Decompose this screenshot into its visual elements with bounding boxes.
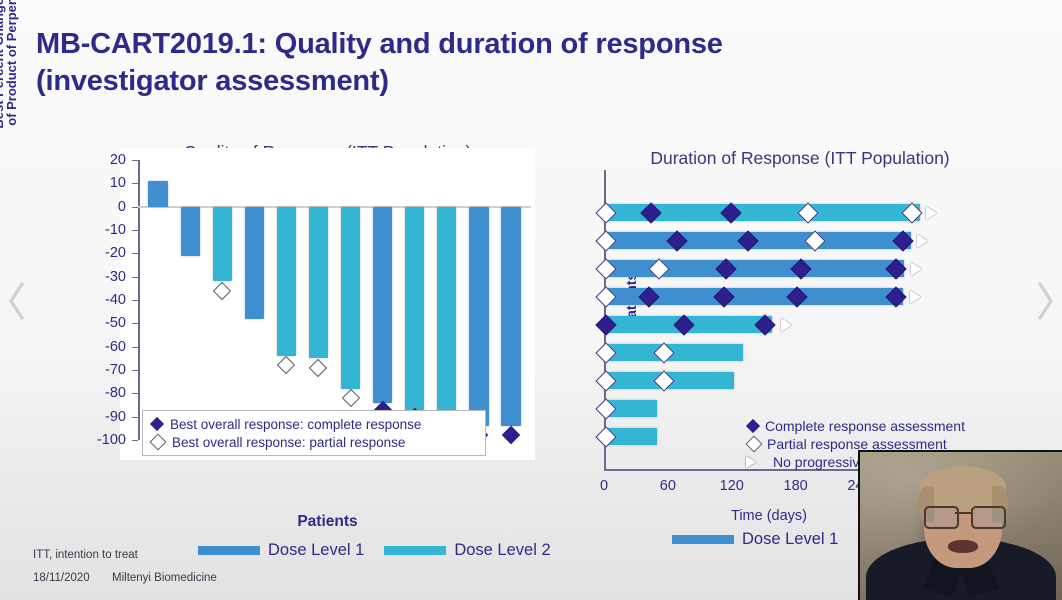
y-axis-label-line-2: of Product of Perpendicular Diameters (%…	[5, 0, 18, 150]
swimlane-bar	[604, 260, 904, 277]
swimlane-bar	[604, 204, 920, 221]
y-axis-tick-label: -80	[84, 385, 126, 401]
title-line-1: MB-CART2019.1: Quality and duration of r…	[36, 28, 723, 60]
y-axis-tick	[132, 207, 138, 208]
y-axis-tick	[132, 183, 138, 184]
title-line-2: (investigator assessment)	[36, 63, 836, 100]
left-y-axis-line	[138, 160, 140, 440]
y-axis-tick-label: -50	[84, 315, 126, 331]
x-axis-tick-label: 60	[660, 478, 676, 494]
y-axis-tick-label: -90	[84, 409, 126, 425]
waterfall-bar	[501, 207, 520, 426]
left-chart-legend: Best overall response: complete response…	[142, 410, 486, 456]
legend-item-complete-response: Best overall response: complete response	[149, 415, 479, 433]
dose-level-legend-left: Dose Level 1 Dose Level 2	[198, 541, 551, 560]
dose-level-1-swatch	[198, 546, 260, 555]
waterfall-bar	[405, 207, 424, 412]
swimlane-bar	[604, 288, 903, 305]
waterfall-bar	[277, 207, 296, 356]
x-axis-tick-label: 120	[720, 478, 744, 494]
legend-label: No progressiv	[773, 454, 859, 470]
y-axis-tick-label: -20	[84, 245, 126, 261]
dose-level-2-label: Dose Level 2	[454, 541, 550, 560]
legend-label: Best overall response: complete response	[170, 417, 421, 432]
footnote-date: 18/11/2020	[33, 572, 90, 584]
filled-diamond-icon	[150, 417, 164, 431]
partial-response-marker	[309, 358, 327, 376]
left-chart-x-axis-label: Patients	[120, 513, 535, 531]
y-axis-tick-label: -10	[84, 222, 126, 238]
y-axis-tick-label: -100	[84, 432, 126, 448]
glasses-bridge	[955, 512, 971, 514]
complete-response-marker	[502, 426, 520, 444]
dose-level-1-label: Dose Level 1	[268, 541, 364, 560]
y-axis-tick	[132, 277, 138, 278]
quality-of-response-chart: 20100-10-20-30-40-50-60-70-80-90-100 Bes…	[120, 148, 535, 460]
no-progression-marker	[926, 206, 937, 220]
open-diamond-icon	[746, 436, 763, 453]
no-progression-marker	[911, 262, 922, 276]
presenter-video-overlay[interactable]	[858, 450, 1062, 600]
dose-level-2-swatch	[384, 546, 446, 555]
y-axis-tick-label: -60	[84, 339, 126, 355]
y-axis-tick-label: -30	[84, 269, 126, 285]
left-chart-y-axis-label: Best Percent Change from Baseline in Sum…	[0, 0, 16, 150]
partial-response-marker	[341, 389, 359, 407]
swimlane-bar	[604, 344, 743, 361]
chevron-left-icon[interactable]	[4, 278, 30, 324]
legend-label: Best overall response: partial response	[172, 435, 405, 450]
waterfall-bar	[148, 181, 167, 207]
legend-item-partial-response: Best overall response: partial response	[149, 433, 479, 451]
x-axis-tick-label: 180	[784, 478, 808, 494]
y-axis-tick	[132, 417, 138, 418]
swimlane-bar	[604, 316, 772, 333]
footnote-itt: ITT, intention to treat	[33, 549, 138, 561]
swimlane-bar	[604, 400, 657, 417]
partial-response-marker	[277, 356, 295, 374]
y-axis-tick	[132, 370, 138, 371]
waterfall-bar	[213, 207, 232, 282]
legend-label: Complete response assessment	[765, 418, 965, 434]
swimlane-bar	[604, 428, 657, 445]
glasses-lens-left	[924, 506, 959, 529]
filled-diamond-icon	[746, 419, 760, 433]
y-axis-tick	[132, 393, 138, 394]
no-progression-marker	[781, 318, 792, 332]
y-axis-tick-label: -40	[84, 292, 126, 308]
y-axis-tick	[132, 323, 138, 324]
footnote-organization: Miltenyi Biomedicine	[112, 572, 217, 584]
legend-item-complete-response-assessment: Complete response assessment	[745, 417, 965, 435]
dose-level-1-label: Dose Level 1	[742, 530, 838, 549]
page-title: MB-CART2019.1: Quality and duration of r…	[36, 26, 836, 100]
swimlane-bar	[604, 372, 734, 389]
y-axis-tick	[132, 253, 138, 254]
y-axis-tick	[132, 300, 138, 301]
y-axis-tick	[132, 347, 138, 348]
presenter-mouth	[948, 540, 978, 553]
no-progression-marker	[910, 290, 921, 304]
chevron-right-icon[interactable]	[1032, 278, 1058, 324]
y-axis-tick-label: 0	[84, 199, 126, 215]
waterfall-bar	[181, 207, 200, 256]
no-progression-marker	[917, 234, 928, 248]
swimlane-bar	[604, 232, 911, 249]
waterfall-bar	[341, 207, 360, 389]
waterfall-bar	[245, 207, 264, 319]
y-axis-tick-label: 20	[84, 152, 126, 168]
waterfall-bar	[373, 207, 392, 403]
x-axis-tick-label: 0	[600, 478, 608, 494]
y-axis-tick-label: -70	[84, 362, 126, 378]
waterfall-bar	[469, 207, 488, 426]
waterfall-bar	[437, 207, 456, 422]
open-diamond-icon	[150, 434, 167, 451]
dose-level-1-swatch	[672, 535, 734, 544]
glasses-lens-right	[971, 506, 1006, 529]
y-axis-tick	[132, 440, 138, 441]
open-triangle-icon	[746, 456, 766, 468]
partial-response-marker	[213, 281, 231, 299]
y-axis-tick-label: 10	[84, 175, 126, 191]
glasses-icon	[922, 506, 1004, 525]
y-axis-tick	[132, 230, 138, 231]
presentation-slide: MB-CART2019.1: Quality and duration of r…	[0, 0, 1062, 600]
waterfall-bar	[309, 207, 328, 359]
y-axis-tick	[132, 160, 138, 161]
